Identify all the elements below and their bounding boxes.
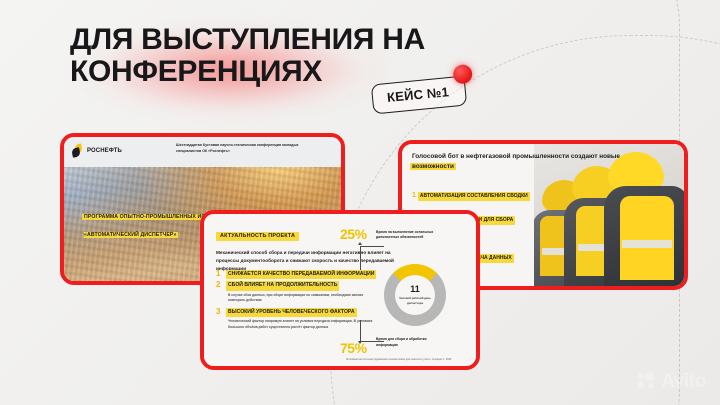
donut-caption: Часовой рабочий день диспетчера [395,296,435,304]
slide-card-center[interactable]: АКТУАЛЬНОСТЬ ПРОЕКТА Механический способ… [200,210,480,370]
hivis-vest [620,196,674,280]
center-slide-footnote: Регламентная система управления показате… [346,358,466,362]
page-title-line-1: ДЛЯ ВЫСТУПЛЕНИЯ НА [70,23,425,56]
chart-bottom-label: Время для сбора и обработки информации [376,337,434,348]
left-slide-header: РОСНЕФТЬ Шестнадцатая Кустовая научно-те… [64,137,341,167]
donut-center: 11 Часовой рабочий день диспетчера [384,264,446,326]
rosneft-logo: РОСНЕФТЬ [72,144,122,158]
item-label: ВЫСОКИЙ УРОВЕНЬ ЧЕЛОВЕЧЕСКОГО ФАКТОРА [228,308,355,317]
item-number: 3 [216,308,223,317]
avito-watermark: Avito [637,371,706,393]
vest-stripe [622,240,672,248]
slide-canvas: ДЛЯ ВЫСТУПЛЕНИЯ НА КОНФЕРЕНЦИЯХ КЕЙС №1 … [0,0,720,405]
right-slide-title-highlight: возможности [412,163,454,170]
avito-watermark-text: Avito [661,371,706,393]
center-slide-kicker: АКТУАЛЬНОСТЬ ПРОЕКТА [216,232,299,241]
right-slide-title: Голосовой бот в нефтегазовой промышленно… [412,152,622,171]
item-number: 2 [216,281,223,290]
item-label: СБОЙ ВЛИЯЕТ НА ПРОДОЛЖИТЕЛЬНОСТЬ [228,281,337,290]
donut-chart: 25% Время на выполнение остальных должно… [338,224,466,362]
right-slide-title-text: Голосовой бот в нефтегазовой промышленно… [412,153,620,160]
flame-icon [72,144,84,158]
item-number: 1 [412,192,416,199]
donut-value: 11 [410,285,420,294]
item-number: 1 [216,270,223,279]
left-slide-header-note: Шестнадцатая Кустовая научно-техническая… [176,143,321,154]
chart-top-label: Время на выполнение остальных должностны… [376,230,434,241]
arrow-up-icon [358,242,362,245]
chart-leader-line [360,246,384,270]
item-label: АВТОМАТИЗАЦИЯ СОСТАВЛЕНИЯ СВОДКИ [420,192,528,201]
avito-logo-icon [637,372,657,392]
right-slide-item: 1 АВТОМАТИЗАЦИЯ СОСТАВЛЕНИЯ СВОДКИ [412,192,528,201]
chart-top-percent: 25% [340,226,367,242]
chart-bottom-percent: 75% [340,340,367,356]
center-slide-body: АКТУАЛЬНОСТЬ ПРОЕКТА Механический способ… [204,214,476,366]
rosneft-logo-text: РОСНЕФТЬ [87,148,122,154]
